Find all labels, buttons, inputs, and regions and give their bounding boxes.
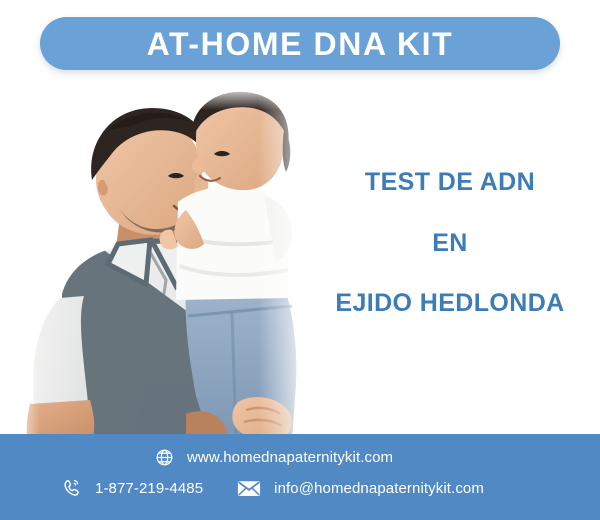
headings-block: TEST DE ADN EN EJIDO HEDLONDA <box>310 150 590 316</box>
envelope-icon <box>237 479 261 498</box>
globe-icon <box>155 448 174 467</box>
family-photo-illustration <box>0 84 330 440</box>
footer-email-label: info@homednapaternitykit.com <box>274 481 484 496</box>
poster: AT-HOME DNA KIT <box>0 0 600 520</box>
phone-icon <box>62 478 82 498</box>
footer-website[interactable]: www.homednapaternitykit.com <box>155 448 393 467</box>
footer-contact-bar: www.homednapaternitykit.com 1-877-219-44… <box>0 434 600 520</box>
footer-website-label: www.homednapaternitykit.com <box>187 450 393 465</box>
footer-row-website: www.homednapaternitykit.com <box>155 448 393 467</box>
heading-line-1: TEST DE ADN <box>310 170 590 195</box>
page-title: AT-HOME DNA KIT <box>147 28 454 60</box>
footer-row-phone-email: 1-877-219-4485 info@homednapaternitykit.… <box>62 478 484 498</box>
footer-phone-label: 1-877-219-4485 <box>95 481 203 496</box>
heading-line-3: EJIDO HEDLONDA <box>310 291 590 316</box>
footer-email[interactable]: info@homednapaternitykit.com <box>237 479 484 498</box>
footer-phone[interactable]: 1-877-219-4485 <box>62 478 203 498</box>
heading-line-2: EN <box>310 231 590 256</box>
family-photo <box>0 84 330 440</box>
title-banner: AT-HOME DNA KIT <box>40 17 560 70</box>
